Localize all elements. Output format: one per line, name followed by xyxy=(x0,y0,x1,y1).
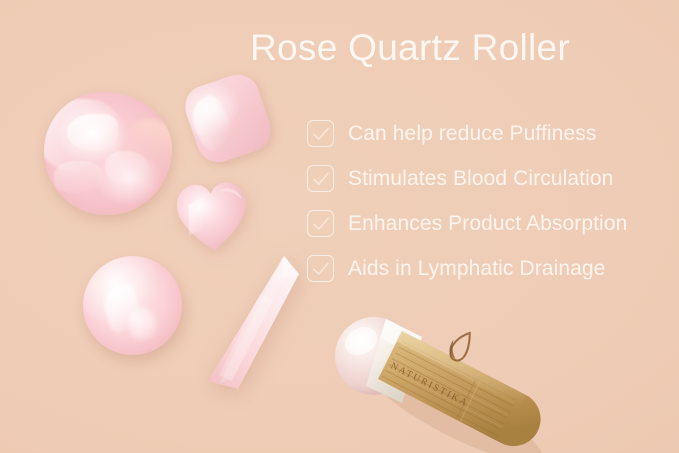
rose-quartz-sphere xyxy=(83,256,182,355)
brand-name: NATURISTIKA xyxy=(389,361,470,409)
benefit-item-1[interactable]: Can help reduce Puffiness xyxy=(307,111,679,156)
benefit-label-2: Stimulates Blood Circulation xyxy=(348,167,613,191)
check-icon xyxy=(311,215,331,233)
check-icon xyxy=(311,125,331,143)
check-icon xyxy=(311,170,331,188)
check-icon xyxy=(311,260,331,278)
raw-rose-quartz-chunk xyxy=(44,92,172,215)
checkbox-2[interactable] xyxy=(307,165,334,192)
benefit-item-4[interactable]: Aids in Lymphatic Drainage xyxy=(307,246,679,291)
page-title: Rose Quartz Roller xyxy=(250,29,670,68)
rose-quartz-heart xyxy=(168,173,255,255)
benefit-item-3[interactable]: Enhances Product Absorption xyxy=(307,201,679,246)
checkbox-4[interactable] xyxy=(307,255,334,282)
benefit-label-3: Enhances Product Absorption xyxy=(348,212,627,236)
rose-quartz-roller-product: NATURISTIKA xyxy=(330,283,575,448)
benefit-item-2[interactable]: Stimulates Blood Circulation xyxy=(307,156,679,201)
checkbox-3[interactable] xyxy=(307,210,334,237)
benefit-label-1: Can help reduce Puffiness xyxy=(348,122,596,146)
benefits-checklist: Can help reduce Puffiness Stimulates Blo… xyxy=(307,111,679,291)
benefit-label-4: Aids in Lymphatic Drainage xyxy=(348,257,605,281)
rose-quartz-point xyxy=(196,248,306,398)
tumbled-rose-quartz-stone xyxy=(179,69,277,168)
checkbox-1[interactable] xyxy=(307,120,334,147)
product-image-canvas: NATURISTIKA Rose Quartz Roller Can help … xyxy=(0,0,679,453)
